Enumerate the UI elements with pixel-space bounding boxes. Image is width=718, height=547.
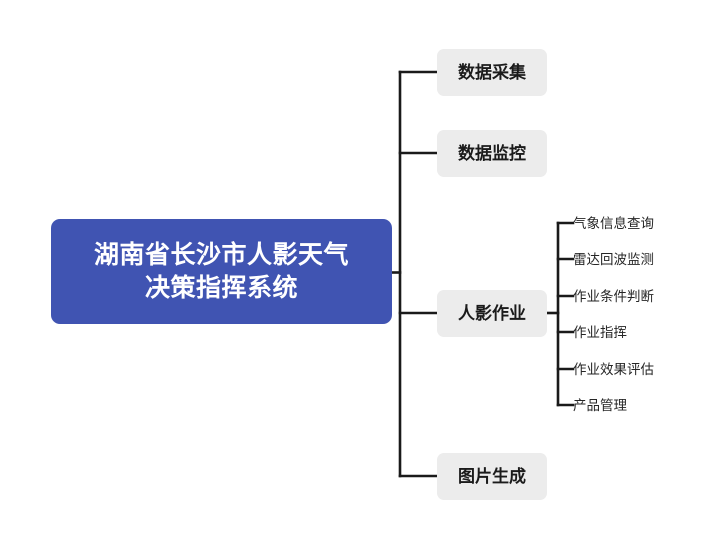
leaf-node-label: 气象信息查询 bbox=[573, 217, 654, 231]
leaf-node-operation-condition-assessment[interactable]: 作业条件判断 bbox=[573, 288, 654, 306]
branch-node-image-generation[interactable]: 图片生成 bbox=[437, 453, 547, 500]
branch-node-label: 数据采集 bbox=[458, 64, 526, 81]
leaf-node-label: 雷达回波监测 bbox=[573, 253, 654, 267]
leaf-node-product-management[interactable]: 产品管理 bbox=[573, 397, 627, 415]
mindmap-canvas: 湖南省长沙市人影天气 决策指挥系统 数据采集 数据监控 人影作业 图片生成 气象… bbox=[0, 0, 718, 547]
leaf-node-operation-effect-evaluation[interactable]: 作业效果评估 bbox=[573, 361, 654, 379]
branch-node-label: 数据监控 bbox=[458, 145, 526, 162]
leaf-node-radar-echo-monitoring[interactable]: 雷达回波监测 bbox=[573, 251, 654, 269]
branch-node-data-collection[interactable]: 数据采集 bbox=[437, 49, 547, 96]
root-node[interactable]: 湖南省长沙市人影天气 决策指挥系统 bbox=[51, 219, 392, 324]
leaf-node-operation-command[interactable]: 作业指挥 bbox=[573, 324, 627, 342]
root-node-label: 湖南省长沙市人影天气 决策指挥系统 bbox=[94, 239, 349, 305]
leaf-node-label: 产品管理 bbox=[573, 399, 627, 413]
leaf-node-weather-info-query[interactable]: 气象信息查询 bbox=[573, 215, 654, 233]
leaf-node-label: 作业指挥 bbox=[573, 326, 627, 340]
branch-node-label: 人影作业 bbox=[458, 305, 526, 322]
leaf-node-label: 作业条件判断 bbox=[573, 290, 654, 304]
branch-node-weather-modification[interactable]: 人影作业 bbox=[437, 290, 547, 337]
branch-node-data-monitoring[interactable]: 数据监控 bbox=[437, 130, 547, 177]
branch-node-label: 图片生成 bbox=[458, 468, 526, 485]
leaf-node-label: 作业效果评估 bbox=[573, 363, 654, 377]
